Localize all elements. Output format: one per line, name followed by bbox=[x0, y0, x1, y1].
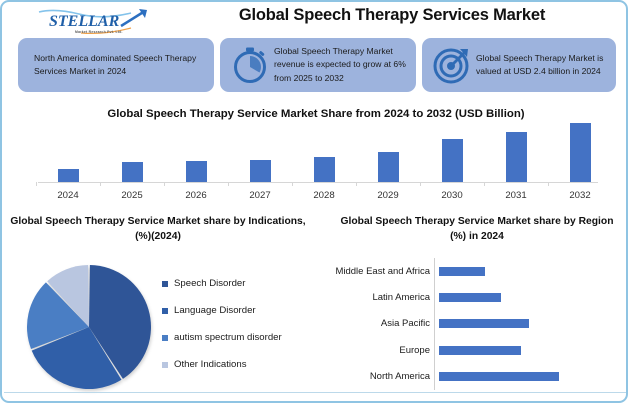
axis-tick bbox=[36, 182, 37, 186]
legend-swatch bbox=[162, 308, 168, 314]
x-axis-label: 2030 bbox=[427, 190, 477, 201]
infographic-root: STELLAR Market Research Pvt. Ltd. Global… bbox=[0, 0, 628, 403]
x-axis-line bbox=[38, 182, 598, 183]
legend-item: Speech Disorder bbox=[162, 270, 282, 297]
bar bbox=[442, 139, 463, 182]
region-row: Latin America bbox=[332, 284, 622, 310]
axis-tick bbox=[356, 182, 357, 186]
indications-chart-title: Global Speech Therapy Service Market sha… bbox=[8, 214, 308, 244]
legend-swatch bbox=[162, 362, 168, 368]
page-title: Global Speech Therapy Services Market bbox=[162, 6, 622, 25]
x-axis-label: 2028 bbox=[299, 190, 349, 201]
axis-tick bbox=[164, 182, 165, 186]
footer-divider bbox=[4, 392, 626, 393]
x-axis-label: 2024 bbox=[43, 190, 93, 201]
axis-tick bbox=[420, 182, 421, 186]
region-bar bbox=[439, 293, 501, 302]
fact-text: Global Speech Therapy Market revenue is … bbox=[274, 45, 412, 85]
bar bbox=[378, 152, 399, 182]
bar bbox=[506, 132, 527, 182]
region-bar bbox=[439, 346, 521, 355]
axis-tick bbox=[292, 182, 293, 186]
fact-box-market-value: Global Speech Therapy Market is valued a… bbox=[422, 38, 616, 92]
forecast-chart-title: Global Speech Therapy Service Market Sha… bbox=[26, 108, 606, 120]
region-bar bbox=[439, 319, 529, 328]
fact-box-growth-rate: Global Speech Therapy Market revenue is … bbox=[220, 38, 416, 92]
region-row: Middle East and Africa bbox=[332, 258, 622, 284]
x-axis-label: 2032 bbox=[555, 190, 605, 201]
region-chart-title: Global Speech Therapy Service Market sha… bbox=[332, 214, 622, 244]
region-label: Europe bbox=[332, 345, 434, 356]
region-label: Middle East and Africa bbox=[332, 266, 434, 277]
fact-box-north-america: North America dominated Speech Therapy S… bbox=[18, 38, 214, 92]
legend-item: Language Disorder bbox=[162, 297, 282, 324]
legend-item: autism spectrum disorder bbox=[162, 324, 282, 351]
axis-tick bbox=[548, 182, 549, 186]
region-label: Asia Pacific bbox=[332, 318, 434, 329]
axis-tick bbox=[100, 182, 101, 186]
legend-swatch bbox=[162, 335, 168, 341]
x-axis-label: 2031 bbox=[491, 190, 541, 201]
indications-pie-chart bbox=[25, 263, 153, 391]
forecast-bar-chart: 202420252026202720282029203020312032 bbox=[18, 120, 618, 205]
region-label: North America bbox=[332, 371, 434, 382]
stopwatch-icon bbox=[228, 43, 272, 87]
bar bbox=[250, 160, 271, 182]
region-row: Europe bbox=[332, 337, 622, 363]
legend-label: Other Indications bbox=[174, 359, 247, 370]
fact-text: Global Speech Therapy Market is valued a… bbox=[476, 52, 612, 78]
region-label: Latin America bbox=[332, 292, 434, 303]
x-axis-label: 2029 bbox=[363, 190, 413, 201]
x-axis-label: 2027 bbox=[235, 190, 285, 201]
region-bar bbox=[439, 267, 485, 276]
svg-text:STELLAR: STELLAR bbox=[49, 13, 120, 30]
bar bbox=[314, 157, 335, 182]
bar bbox=[570, 123, 591, 182]
region-row: Asia Pacific bbox=[332, 311, 622, 337]
region-bar bbox=[439, 372, 559, 381]
x-axis-label: 2026 bbox=[171, 190, 221, 201]
stellar-logo: STELLAR Market Research Pvt. Ltd. bbox=[35, 6, 153, 36]
axis-tick bbox=[484, 182, 485, 186]
pie-legend: Speech DisorderLanguage Disorderautism s… bbox=[162, 270, 282, 378]
fact-text: North America dominated Speech Therapy S… bbox=[28, 52, 204, 78]
bar bbox=[58, 169, 79, 182]
logo-tagline: Market Research Pvt. Ltd. bbox=[75, 30, 123, 34]
region-row: North America bbox=[332, 364, 622, 390]
legend-label: Language Disorder bbox=[174, 305, 256, 316]
axis-tick bbox=[228, 182, 229, 186]
legend-label: autism spectrum disorder bbox=[174, 332, 282, 343]
legend-label: Speech Disorder bbox=[174, 278, 245, 289]
region-bar-chart: Middle East and AfricaLatin AmericaAsia … bbox=[332, 254, 622, 396]
bar bbox=[186, 161, 207, 182]
x-axis-label: 2025 bbox=[107, 190, 157, 201]
bar bbox=[122, 162, 143, 182]
legend-swatch bbox=[162, 281, 168, 287]
legend-item: Other Indications bbox=[162, 351, 282, 378]
target-arrow-icon bbox=[430, 43, 474, 87]
